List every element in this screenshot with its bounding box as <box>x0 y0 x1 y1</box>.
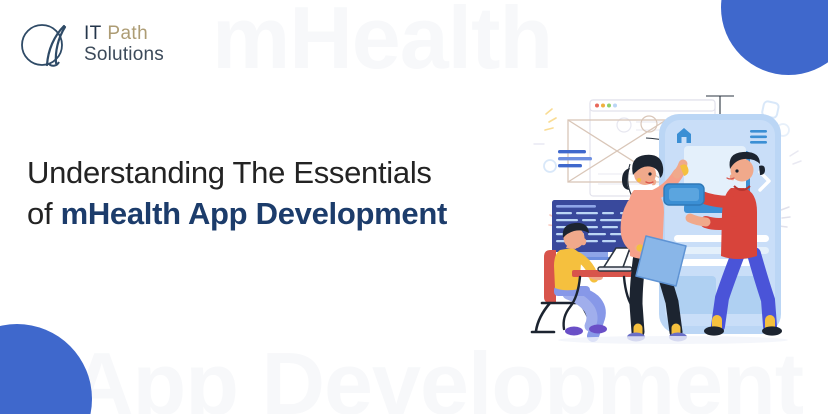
watermark-bottom: App Development <box>70 340 803 414</box>
headline-line-1: Understanding The Essentials <box>27 152 507 193</box>
hero-illustration <box>528 78 818 348</box>
itpath-circle-swoosh-logo-icon <box>18 16 76 74</box>
hamburger-menu-icon <box>750 130 767 144</box>
brand-name-it: IT <box>84 23 102 44</box>
page-title: Understanding The Essentials of mHealth … <box>27 152 507 234</box>
held-tablet <box>636 236 686 286</box>
headline-line-2: of mHealth App Development <box>27 193 507 234</box>
brand-name-solutions: Solutions <box>84 45 164 66</box>
headline-emphasis: mHealth App Development <box>61 196 447 231</box>
brand-logo-text: IT Path Solutions <box>84 24 164 65</box>
brand-logo[interactable]: IT Path Solutions <box>18 16 164 74</box>
corner-circle-top-right-decoration <box>721 0 828 75</box>
blog-banner: mHealth App Development IT Path Solution… <box>0 0 828 414</box>
brand-logo-line-1: IT Path <box>84 24 164 45</box>
watermark-top: mHealth <box>212 0 552 82</box>
brand-name-path: Path <box>107 23 148 44</box>
headline-prefix: of <box>27 196 61 231</box>
